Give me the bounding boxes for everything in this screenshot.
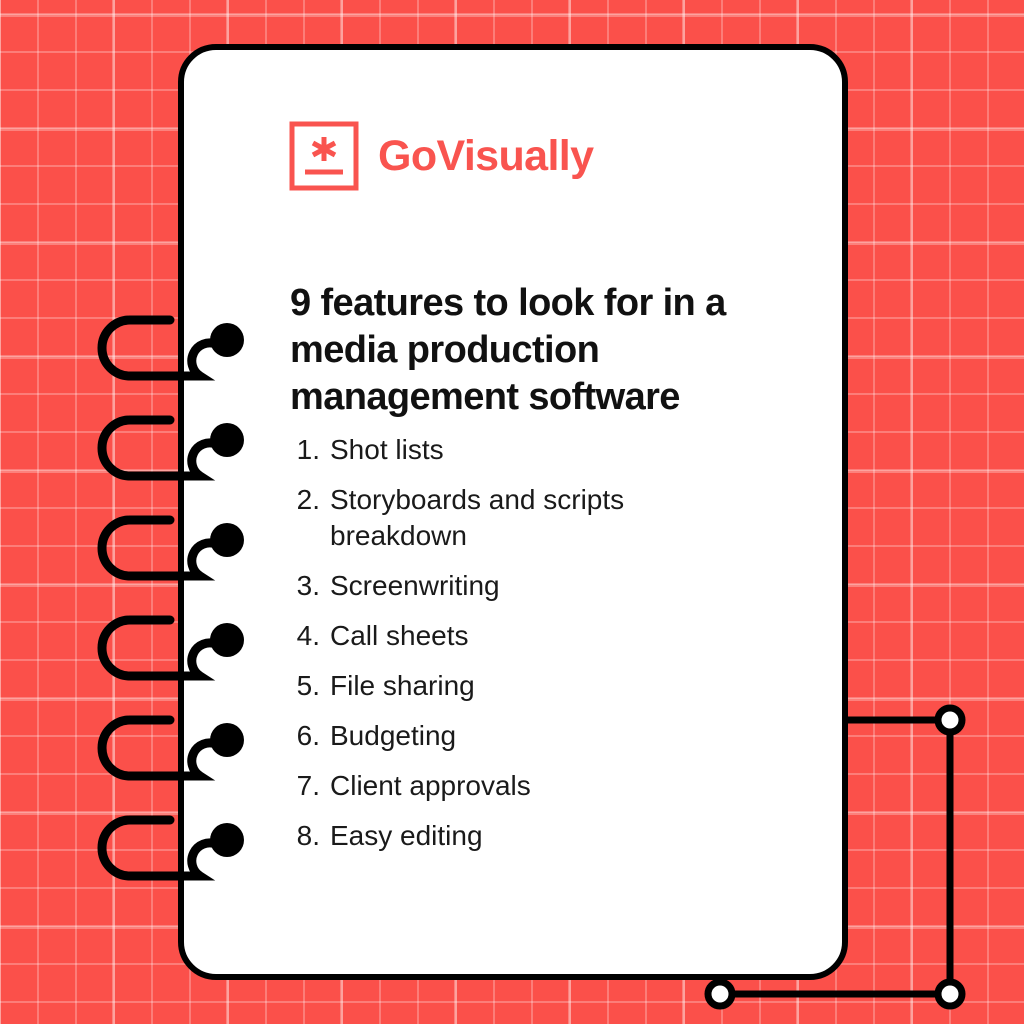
list-item-number: 1. [290,432,330,468]
list-item-number: 2. [290,482,330,518]
list-item: 3. Screenwriting [290,568,760,604]
card-content: GoVisually 9 features to look for in a m… [184,50,842,974]
list-item-label: File sharing [330,668,760,704]
page-title: 9 features to look for in a media produc… [290,280,790,421]
list-item: 1. Shot lists [290,432,760,468]
list-item-label: Storyboards and scripts breakdown [330,482,760,554]
notebook-card: GoVisually 9 features to look for in a m… [178,44,848,980]
list-item-label: Shot lists [330,432,760,468]
brand-name: GoVisually [378,135,593,178]
list-item: 6. Budgeting [290,718,760,754]
list-item: 7. Client approvals [290,768,760,804]
list-item-number: 3. [290,568,330,604]
list-item-number: 5. [290,668,330,704]
list-item: 8. Easy editing [290,818,760,854]
list-item-label: Screenwriting [330,568,760,604]
list-item: 2. Storyboards and scripts breakdown [290,482,760,554]
list-item-label: Call sheets [330,618,760,654]
list-item: 4. Call sheets [290,618,760,654]
list-item-label: Budgeting [330,718,760,754]
feature-list: 1. Shot lists 2. Storyboards and scripts… [290,432,760,868]
brand-lockup: GoVisually [288,120,593,192]
list-item-label: Easy editing [330,818,760,854]
list-item-label: Client approvals [330,768,760,804]
list-item-number: 4. [290,618,330,654]
asterisk-document-icon [288,120,360,192]
poster-canvas: GoVisually 9 features to look for in a m… [0,0,1024,1024]
list-item-number: 7. [290,768,330,804]
list-item-number: 8. [290,818,330,854]
list-item-number: 6. [290,718,330,754]
list-item: 5. File sharing [290,668,760,704]
